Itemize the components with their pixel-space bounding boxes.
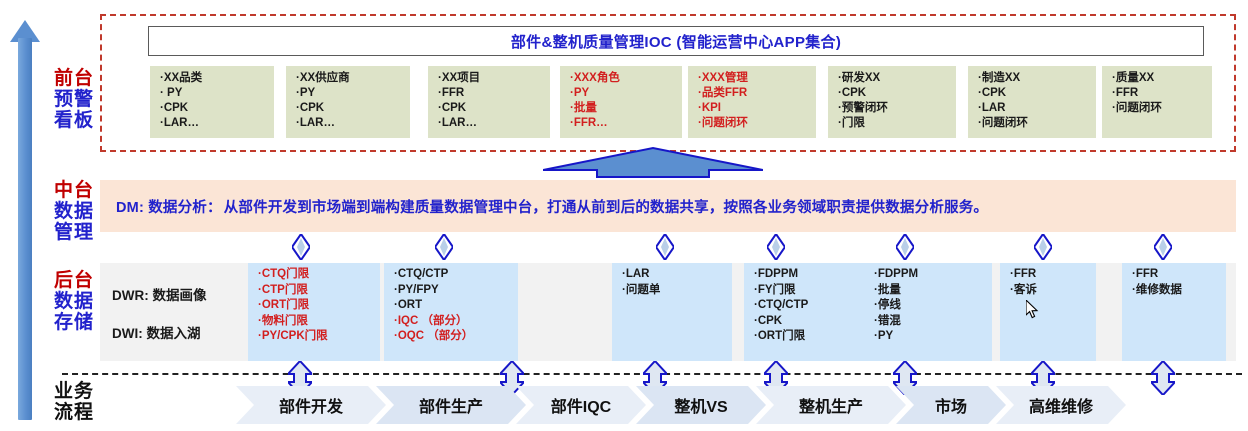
front-card-item: ·CPK xyxy=(978,86,1096,101)
process-step-label: 整机VS xyxy=(674,393,727,417)
back-card-item: ·问题单 xyxy=(622,283,732,299)
process-step-label: 整机生产 xyxy=(799,393,863,417)
process-step-2[interactable]: 部件生产 xyxy=(376,386,526,424)
vertical-axis-arrow-icon xyxy=(10,20,40,420)
front-card-item: ·CPK xyxy=(296,101,410,116)
middle-platform-text: DM: 数据分析：从部件开发到市场端到端构建质量数据管理中台，打通从前到后的数据… xyxy=(100,196,988,217)
front-card-item: ·XXX管理 xyxy=(698,71,816,86)
front-card-item: ·LAR… xyxy=(296,116,410,131)
middle-back-diamond-arrow-icon xyxy=(1034,234,1052,260)
back-card-item: ·CTQ/CTP xyxy=(394,267,518,283)
front-card-rd-xx[interactable]: ·研发XX·CPK·预警闭环·门限 xyxy=(828,66,956,138)
process-step-3[interactable]: 部件IQC xyxy=(516,386,646,424)
front-card-item: ·KPI xyxy=(698,101,816,116)
back-card-item: ·错混 xyxy=(874,314,992,330)
front-card-item: ·CPK xyxy=(838,86,956,101)
front-card-item: ·XX品类 xyxy=(160,71,274,86)
back-card-item: ·PY/FPY xyxy=(394,283,518,299)
back-card-item: ·FY门限 xyxy=(754,283,870,299)
business-process-chevron-row: 部件开发部件生产部件IQC整机VS整机生产市场高维维修 xyxy=(236,386,1244,424)
front-card-xx-project[interactable]: ·XX项目·FFR·CPK·LAR… xyxy=(428,66,550,138)
front-card-item: ·质量XX xyxy=(1112,71,1212,86)
process-step-label: 部件IQC xyxy=(551,393,611,417)
back-card-item: ·ORT门限 xyxy=(258,298,380,314)
back-card-item: ·OQC （部分） xyxy=(394,329,518,345)
back-card-part-iqc-data[interactable]: ·LAR·问题单 xyxy=(612,263,732,361)
front-card-item: ·PY xyxy=(570,86,682,101)
front-card-item: ·品类FFR xyxy=(698,86,816,101)
stage-process-line1: 业务 xyxy=(38,381,110,402)
back-card-item: ·CTQ/CTP xyxy=(754,298,870,314)
front-card-item: ·FFR xyxy=(1112,86,1212,101)
back-card-part-development-data[interactable]: ·CTQ门限·CTP门限·ORT门限·物料门限·PY/CPK门限 xyxy=(248,263,380,361)
back-card-item: ·停线 xyxy=(874,298,992,314)
front-card-xx-category[interactable]: ·XX品类· PY·CPK·LAR… xyxy=(150,66,274,138)
process-step-6[interactable]: 市场 xyxy=(896,386,1006,424)
middle-body-label: 从部件开发到市场端到端构建质量数据管理中台，打通从前到后的数据共享，按照各业务领… xyxy=(224,200,988,216)
middle-back-diamond-arrow-icon xyxy=(767,234,785,260)
front-card-item: ·研发XX xyxy=(838,71,956,86)
front-card-item: ·问题闭环 xyxy=(978,116,1096,131)
front-card-item: ·问题闭环 xyxy=(1112,101,1212,116)
front-card-item: ·CPK xyxy=(160,101,274,116)
front-card-item: ·制造XX xyxy=(978,71,1096,86)
front-to-middle-block-arrow-icon xyxy=(543,146,763,178)
process-step-4[interactable]: 整机VS xyxy=(636,386,766,424)
middle-back-diamond-arrow-icon xyxy=(1154,234,1172,260)
back-card-machine-production-data[interactable]: ·FDPPM·批量·停线·错混·PY xyxy=(864,263,992,361)
front-card-item: ·预警闭环 xyxy=(838,101,956,116)
back-card-market-data[interactable]: ·FFR·客诉 xyxy=(1000,263,1096,361)
back-card-item: ·CTQ门限 xyxy=(258,267,380,283)
dwi-label: DWI: 数据入湖 xyxy=(112,322,242,342)
process-step-label: 部件开发 xyxy=(279,393,343,417)
stage-label-process: 业务 流程 xyxy=(38,381,110,423)
back-card-item: ·ORT xyxy=(394,298,518,314)
front-card-item: ·LAR… xyxy=(160,116,274,131)
front-card-item: ·LAR xyxy=(978,101,1096,116)
middle-back-diamond-arrow-icon xyxy=(656,234,674,260)
back-card-item: ·物料门限 xyxy=(258,314,380,330)
back-card-item: ·维修数据 xyxy=(1132,283,1226,299)
front-card-xxx-management[interactable]: ·XXX管理·品类FFR·KPI·问题闭环 xyxy=(688,66,816,138)
stage-process-line2: 流程 xyxy=(38,402,110,423)
back-card-item: ·FFR xyxy=(1010,267,1096,283)
back-card-part-production-data[interactable]: ·CTQ/CTP·PY/FPY·ORT·IQC （部分）·OQC （部分） xyxy=(384,263,518,361)
back-card-item: ·PY xyxy=(874,329,992,345)
front-card-manufacturing-xx[interactable]: ·制造XX·CPK·LAR·问题闭环 xyxy=(968,66,1096,138)
process-step-1[interactable]: 部件开发 xyxy=(236,386,386,424)
ioc-title-bar: 部件&整机质量管理IOC (智能运营中心APP集合) xyxy=(148,26,1204,56)
front-app-card-row: ·XX品类· PY·CPK·LAR…·XX供应商·PY·CPK·LAR…·XX项… xyxy=(100,66,1236,146)
front-card-item: ·XX项目 xyxy=(438,71,550,86)
dwr-label: DWR: 数据画像 xyxy=(112,284,242,304)
front-card-item: ·XX供应商 xyxy=(296,71,410,86)
front-card-item: ·PY xyxy=(296,86,410,101)
back-card-item: ·IQC （部分） xyxy=(394,314,518,330)
diagram-canvas: 前台 预警 看板 中台 数据 管理 后台 数据 存储 业务 流程 部件&整机质量… xyxy=(0,0,1248,431)
process-step-label: 市场 xyxy=(935,393,967,417)
middle-lead-label: DM: 数据分析： xyxy=(116,200,222,216)
back-card-item: ·FDPPM xyxy=(874,267,992,283)
front-card-item: ·门限 xyxy=(838,116,956,131)
process-step-5[interactable]: 整机生产 xyxy=(756,386,906,424)
middle-back-diamond-arrow-icon xyxy=(896,234,914,260)
process-step-label: 部件生产 xyxy=(419,393,483,417)
back-card-item: ·FFR xyxy=(1132,267,1226,283)
front-card-item: ·CPK xyxy=(438,101,550,116)
back-card-item: ·CTP门限 xyxy=(258,283,380,299)
front-card-item: ·批量 xyxy=(570,101,682,116)
front-card-item: ·LAR… xyxy=(438,116,550,131)
front-card-item: ·XXX角色 xyxy=(570,71,682,86)
middle-back-diamond-arrow-icon xyxy=(292,234,310,260)
front-card-item: ·FFR… xyxy=(570,116,682,131)
back-stage-row-labels: DWR: 数据画像 DWI: 数据入湖 xyxy=(112,270,242,356)
front-card-xx-supplier[interactable]: ·XX供应商·PY·CPK·LAR… xyxy=(286,66,410,138)
mouse-cursor-icon xyxy=(1026,300,1040,320)
back-card-item: ·PY/CPK门限 xyxy=(258,329,380,345)
front-card-quality-xx[interactable]: ·质量XX·FFR·问题闭环 xyxy=(1102,66,1212,138)
front-card-item: · PY xyxy=(160,86,274,101)
back-card-item: ·客诉 xyxy=(1010,283,1096,299)
front-card-xxx-role[interactable]: ·XXX角色·PY·批量·FFR… xyxy=(560,66,682,138)
back-card-maintenance-data[interactable]: ·FFR·维修数据 xyxy=(1122,263,1226,361)
back-card-item: ·ORT门限 xyxy=(754,329,870,345)
middle-platform-band: DM: 数据分析：从部件开发到市场端到端构建质量数据管理中台，打通从前到后的数据… xyxy=(100,180,1236,232)
back-card-machine-vs-data[interactable]: ·FDPPM·FY门限·CTQ/CTP·CPK·ORT门限 xyxy=(744,263,870,361)
process-step-7[interactable]: 高维维修 xyxy=(996,386,1126,424)
back-card-item: ·批量 xyxy=(874,283,992,299)
back-card-item: ·FDPPM xyxy=(754,267,870,283)
axis-arrow-shaft xyxy=(18,38,32,420)
front-card-item: ·问题闭环 xyxy=(698,116,816,131)
middle-back-diamond-arrow-icon xyxy=(435,234,453,260)
front-card-item: ·FFR xyxy=(438,86,550,101)
back-card-item: ·CPK xyxy=(754,314,870,330)
process-step-label: 高维维修 xyxy=(1029,393,1093,417)
back-card-item: ·LAR xyxy=(622,267,732,283)
